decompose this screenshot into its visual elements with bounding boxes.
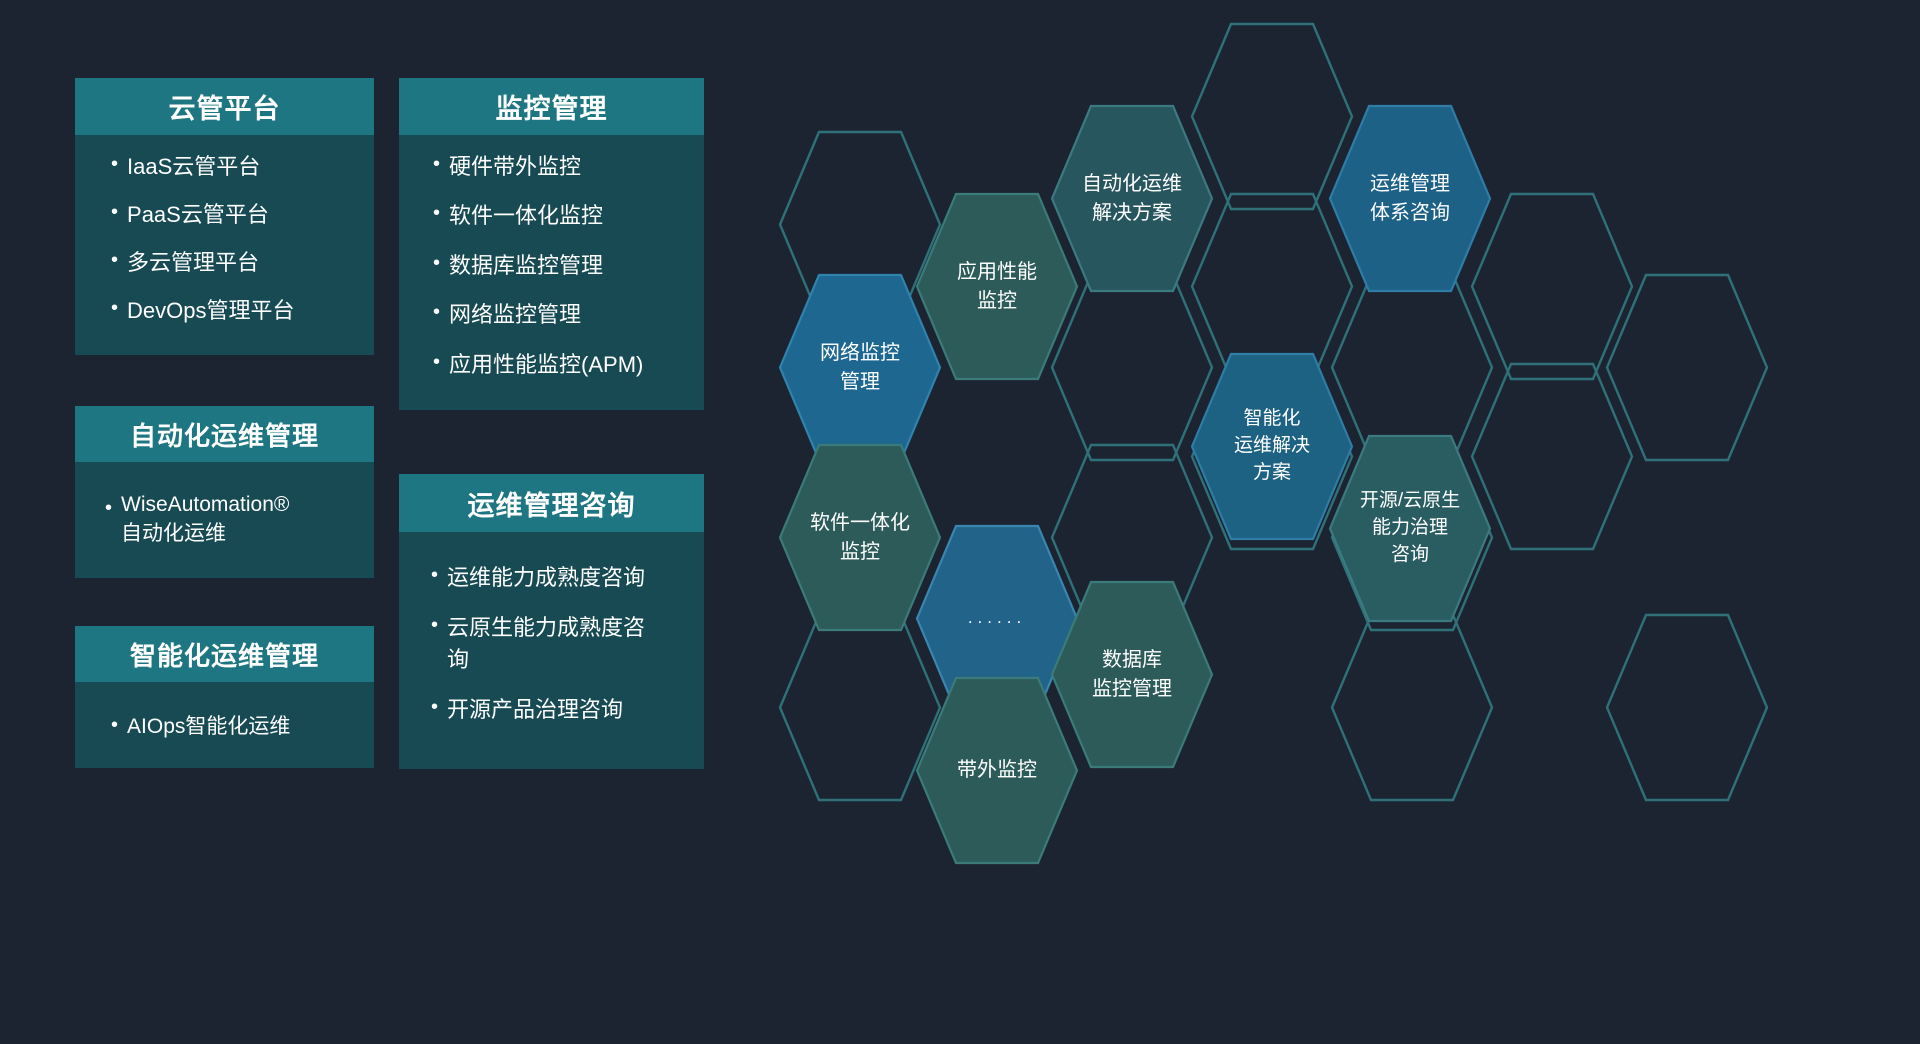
hexagon-honeycomb: 应用性能 监控 自动化运维 解决方案 运维管理 体系咨询 网络监控 管理	[760, 0, 1920, 1044]
hex-network-monitoring[interactable]: 网络监控 管理	[778, 273, 942, 462]
bullet-icon: •	[433, 302, 440, 322]
hex-out-of-band[interactable]: 带外监控	[915, 676, 1079, 865]
list-item-label: 数据库监控管理	[449, 248, 690, 280]
list-item-label: 软件一体化监控	[449, 198, 690, 230]
bullet-icon: •	[433, 154, 440, 174]
bullet-icon: •	[111, 202, 118, 222]
card-automation-ops-management[interactable]: 自动化运维管理 • WiseAutomation® 自动化运维	[75, 406, 374, 578]
list-item[interactable]: • 应用性能监控(APM)	[433, 347, 690, 396]
list-item[interactable]: • PaaS云管平台	[111, 197, 356, 245]
list-item-label: 应用性能监控(APM)	[449, 347, 690, 379]
list-item[interactable]: • WiseAutomation® 自动化运维	[105, 493, 360, 547]
bullet-icon: •	[431, 565, 438, 585]
card-header: 运维管理咨询	[399, 474, 704, 532]
list-item-label: 多云管理平台	[127, 245, 356, 277]
bullet-icon: •	[431, 615, 438, 635]
card-body: • WiseAutomation® 自动化运维	[75, 462, 374, 578]
bullet-icon: •	[433, 203, 440, 223]
list-item-label: 网络监控管理	[449, 297, 690, 329]
hex-empty-bottom-right[interactable]	[1605, 613, 1769, 802]
list-item[interactable]: • AIOps智能化运维	[111, 710, 360, 740]
list-item-label: WiseAutomation® 自动化运维	[121, 493, 360, 547]
slide-root: 云管平台 • IaaS云管平台 • PaaS云管平台 • 多云管理平台 • De…	[0, 0, 1920, 1044]
bullet-icon: •	[111, 298, 118, 318]
list-item[interactable]: • 开源产品治理咨询	[431, 692, 690, 742]
list-item[interactable]: • 云原生能力成熟度咨 询	[431, 610, 690, 692]
bullet-icon: •	[111, 715, 118, 735]
card-cloud-management-platform[interactable]: 云管平台 • IaaS云管平台 • PaaS云管平台 • 多云管理平台 • De…	[75, 78, 374, 355]
hex-automation-solution[interactable]: 自动化运维 解决方案	[1050, 104, 1214, 293]
card-body: • IaaS云管平台 • PaaS云管平台 • 多云管理平台 • DevOps管…	[75, 135, 374, 355]
list-item[interactable]: • IaaS云管平台	[111, 149, 356, 197]
card-body: • 运维能力成熟度咨询 • 云原生能力成熟度咨 询 • 开源产品治理咨询	[399, 532, 704, 769]
card-header: 智能化运维管理	[75, 626, 374, 682]
bullet-icon: •	[105, 498, 112, 518]
bullet-icon: •	[431, 697, 438, 717]
card-header: 自动化运维管理	[75, 406, 374, 462]
card-body: • AIOps智能化运维	[75, 682, 374, 768]
list-item-label: AIOps智能化运维	[127, 710, 360, 740]
list-item-label: 开源产品治理咨询	[447, 692, 690, 724]
list-item[interactable]: • 硬件带外监控	[433, 149, 690, 198]
card-header: 监控管理	[399, 78, 704, 135]
bullet-icon: •	[433, 253, 440, 273]
list-item[interactable]: • 网络监控管理	[433, 297, 690, 346]
bullet-icon: •	[111, 154, 118, 174]
bullet-icon: •	[433, 352, 440, 372]
bullet-icon: •	[111, 250, 118, 270]
hex-opensource-consulting[interactable]: 开源/云原生 能力治理 咨询	[1328, 434, 1492, 623]
list-item[interactable]: • DevOps管理平台	[111, 293, 356, 341]
card-header: 云管平台	[75, 78, 374, 135]
list-item-label: PaaS云管平台	[127, 197, 356, 229]
list-item-label: DevOps管理平台	[127, 293, 356, 325]
card-body: • 硬件带外监控 • 软件一体化监控 • 数据库监控管理 • 网络监控管理 •	[399, 135, 704, 410]
list-item-label: IaaS云管平台	[127, 149, 356, 181]
card-monitoring-management[interactable]: 监控管理 • 硬件带外监控 • 软件一体化监控 • 数据库监控管理 • 网络监控…	[399, 78, 704, 410]
list-item[interactable]: • 数据库监控管理	[433, 248, 690, 297]
hex-ops-system-consulting[interactable]: 运维管理 体系咨询	[1328, 104, 1492, 293]
card-ops-management-consulting[interactable]: 运维管理咨询 • 运维能力成熟度咨询 • 云原生能力成熟度咨 询 • 开源产品治…	[399, 474, 704, 769]
hex-empty-right-c[interactable]	[1330, 613, 1494, 802]
list-item-label: 硬件带外监控	[449, 149, 690, 181]
list-item[interactable]: • 运维能力成熟度咨询	[431, 560, 690, 610]
card-intelligent-ops-management[interactable]: 智能化运维管理 • AIOps智能化运维	[75, 626, 374, 768]
list-item[interactable]: • 多云管理平台	[111, 245, 356, 293]
hex-empty-right-d[interactable]	[1605, 273, 1769, 462]
list-item-label: 云原生能力成熟度咨 询	[447, 610, 690, 674]
list-item[interactable]: • 软件一体化监控	[433, 198, 690, 247]
list-item-label: 运维能力成熟度咨询	[447, 560, 690, 592]
